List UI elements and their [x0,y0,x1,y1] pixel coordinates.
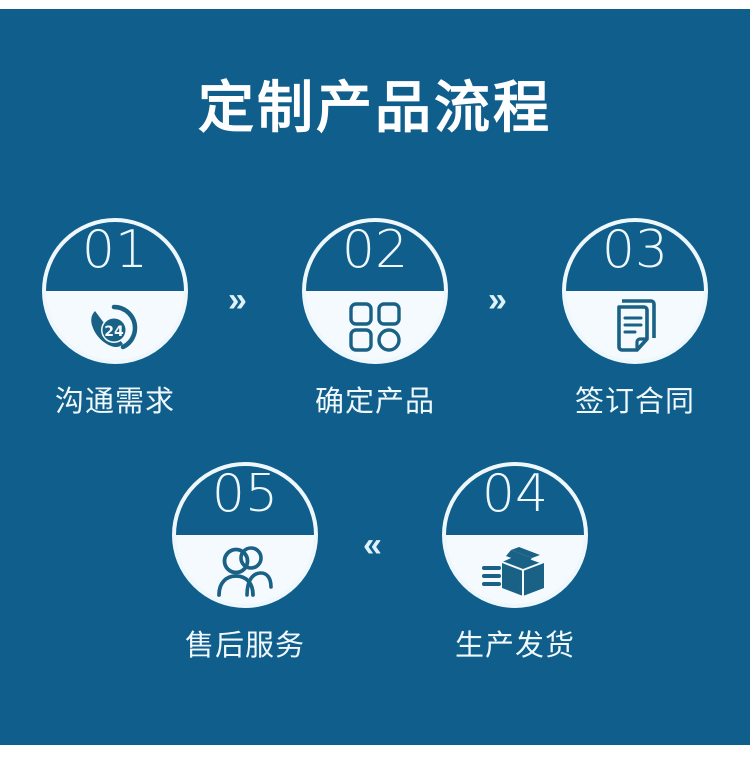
grid-apps-icon [347,300,403,354]
step-03-circle: 03 [562,218,708,364]
process-step-02: 02 确定产品 [295,218,455,420]
shipping-box-icon [482,542,548,600]
step-05-label: 售后服务 [165,622,325,664]
customer-service-people-icon [215,543,275,599]
arrow-step4-to-step5: « [363,528,377,562]
arrow-step2-to-step3: » [488,283,502,317]
phone-icon-badge-text: 24 [104,324,124,340]
step-04-icon-slot [442,538,588,604]
step-02-circle: 02 [302,218,448,364]
step-05-circle: 05 [172,462,318,608]
step-02-number: 02 [302,224,448,276]
step-01-label: 沟通需求 [35,378,195,420]
process-step-04: 04 [435,462,595,664]
step-04-circle: 04 [442,462,588,608]
step-05-icon-slot [172,538,318,604]
step-03-icon-slot [562,294,708,360]
step-02-icon-slot [302,294,448,360]
process-step-01: 01 24 沟通需求 [35,218,195,420]
step-03-number: 03 [562,224,708,276]
step-01-icon-slot: 24 [42,294,188,360]
step-02-label: 确定产品 [295,378,455,420]
infographic-canvas: 定制产品流程 01 24 沟通需求 [0,0,750,760]
step-05-number: 05 [172,468,318,520]
step-04-number: 04 [442,468,588,520]
page-title: 定制产品流程 [0,80,750,136]
arrow-step1-to-step2: » [228,283,242,317]
process-step-03: 03 签订合同 [555,218,715,420]
step-01-circle: 01 24 [42,218,188,364]
step-01-number: 01 [42,224,188,276]
process-step-05: 05 售后服务 [165,462,325,664]
contract-document-icon [610,298,660,356]
step-03-label: 签订合同 [555,378,715,420]
step-04-label: 生产发货 [435,622,595,664]
phone-24h-support-icon: 24 [84,299,146,355]
